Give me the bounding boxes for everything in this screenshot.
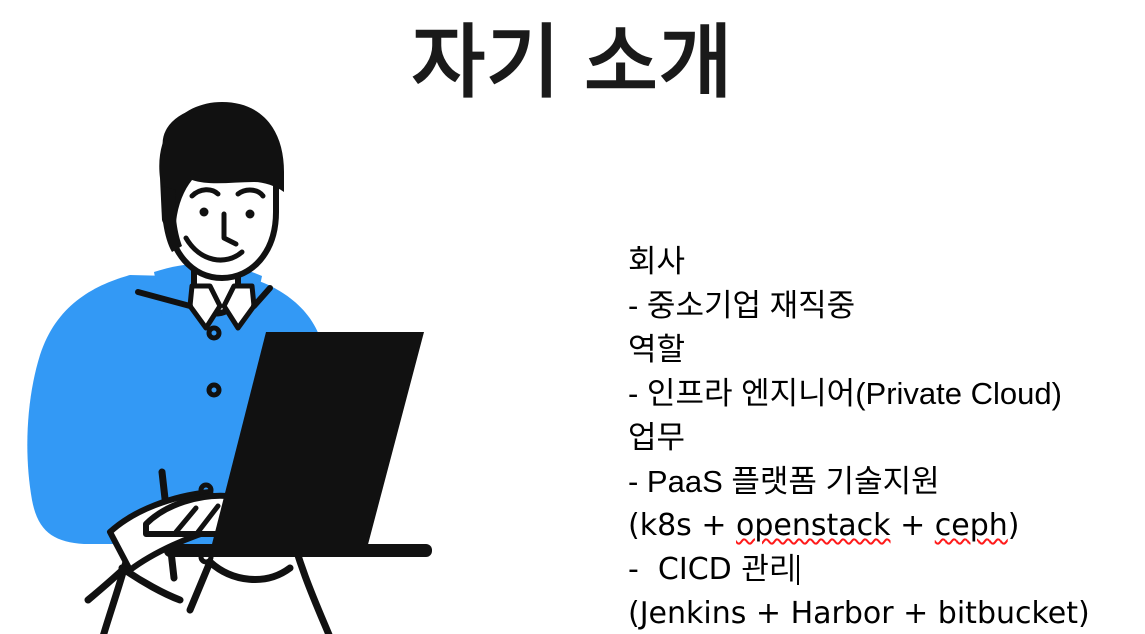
role-heading: 역할 [628,328,1128,372]
duty-cicd: - CICD 관리 [628,548,1128,592]
company-heading: 회사 [628,240,1128,284]
company-value: - 중소기업 재직중 [628,284,1128,328]
role-value: - 인프라 엔지니어(Private Cloud) [628,372,1128,416]
duty-paas-stack: (k8s + openstack + ceph) [628,504,1128,548]
laptop-base [164,544,432,557]
man-using-laptop-illustration [14,100,434,634]
slide-canvas: 자기 소개 [0,0,1145,634]
spell-error-ceph: ceph [935,508,1008,543]
body-text-block: 회사 - 중소기업 재직중 역할 - 인프라 엔지니어(Private Clou… [628,240,1128,634]
eye-right [246,210,255,219]
eye-left [200,208,209,217]
right-arm-group [190,562,290,610]
text-caret [797,555,799,585]
duties-heading: 업무 [628,416,1128,460]
page-title: 자기 소개 [0,22,1145,104]
spell-error-openstack: openstack [736,508,891,543]
duty-cicd-stack: (Jenkins + Harbor + bitbucket) [628,592,1128,634]
duty-paas: - PaaS 플랫폼 기술지원 [628,460,1128,504]
